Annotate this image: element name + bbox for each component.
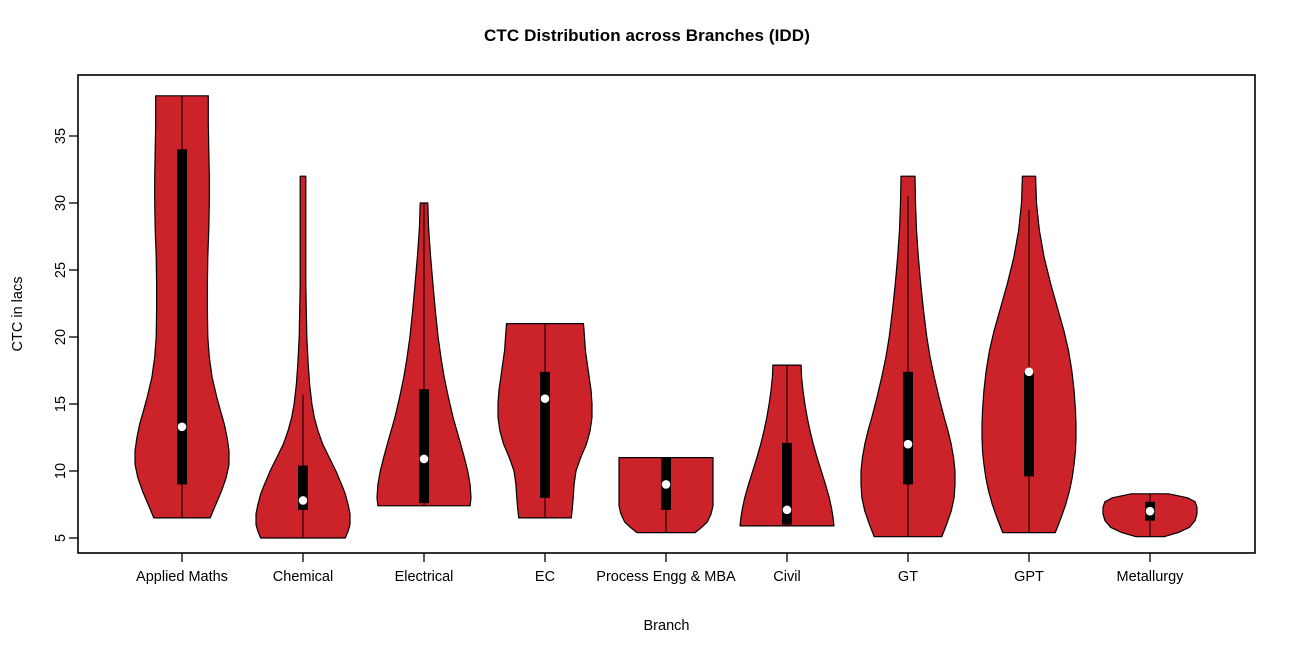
x-tick-label-gpt: GPT <box>1014 569 1044 585</box>
y-tick-label: 20 <box>53 329 69 345</box>
median-marker <box>178 422 187 431</box>
median-marker <box>1146 507 1155 516</box>
median-marker <box>299 496 308 505</box>
violins-layer <box>135 96 1197 538</box>
violin-metallurgy <box>1103 494 1197 537</box>
x-tick-label-metallurgy: Metallurgy <box>1117 569 1185 585</box>
x-tick-label-ec: EC <box>535 569 555 585</box>
iqr-box <box>419 389 429 503</box>
violin-electrical <box>377 203 471 506</box>
y-axis-title: CTC in lacs <box>10 277 26 352</box>
iqr-box <box>1024 372 1034 477</box>
x-tick-label-applied-maths: Applied Maths <box>136 569 228 585</box>
iqr-box <box>177 149 187 484</box>
median-marker <box>783 506 792 515</box>
x-tick-label-chemical: Chemical <box>273 569 333 585</box>
y-tick-label: 35 <box>53 128 69 144</box>
iqr-box <box>903 372 913 485</box>
violin-chemical <box>256 176 350 538</box>
median-marker <box>541 394 550 403</box>
y-tick-label: 30 <box>53 195 69 211</box>
median-marker <box>662 480 671 489</box>
violin-gt <box>861 176 955 537</box>
median-marker <box>904 440 913 449</box>
x-tick-label-gt: GT <box>898 569 918 585</box>
y-tick-label: 15 <box>53 396 69 412</box>
y-tick-label: 10 <box>53 463 69 479</box>
y-tick-label: 25 <box>53 262 69 278</box>
plot-canvas: 5101520253035Applied MathsChemicalElectr… <box>0 0 1294 653</box>
median-marker <box>420 455 429 464</box>
violin-process-engg-mba <box>619 458 713 533</box>
violin-applied-maths <box>135 96 229 518</box>
y-tick-label: 5 <box>53 534 69 542</box>
violin-ec <box>498 324 592 518</box>
iqr-box <box>540 372 550 498</box>
violin-civil <box>740 365 834 526</box>
violin-gpt <box>982 176 1076 532</box>
violin-plot-figure: CTC Distribution across Branches (IDD) 5… <box>0 0 1294 653</box>
x-tick-label-civil: Civil <box>773 569 800 585</box>
x-tick-label-process-engg-mba: Process Engg & MBA <box>596 569 736 585</box>
x-axis-title: Branch <box>644 618 690 634</box>
median-marker <box>1025 368 1034 377</box>
x-tick-label-electrical: Electrical <box>395 569 454 585</box>
